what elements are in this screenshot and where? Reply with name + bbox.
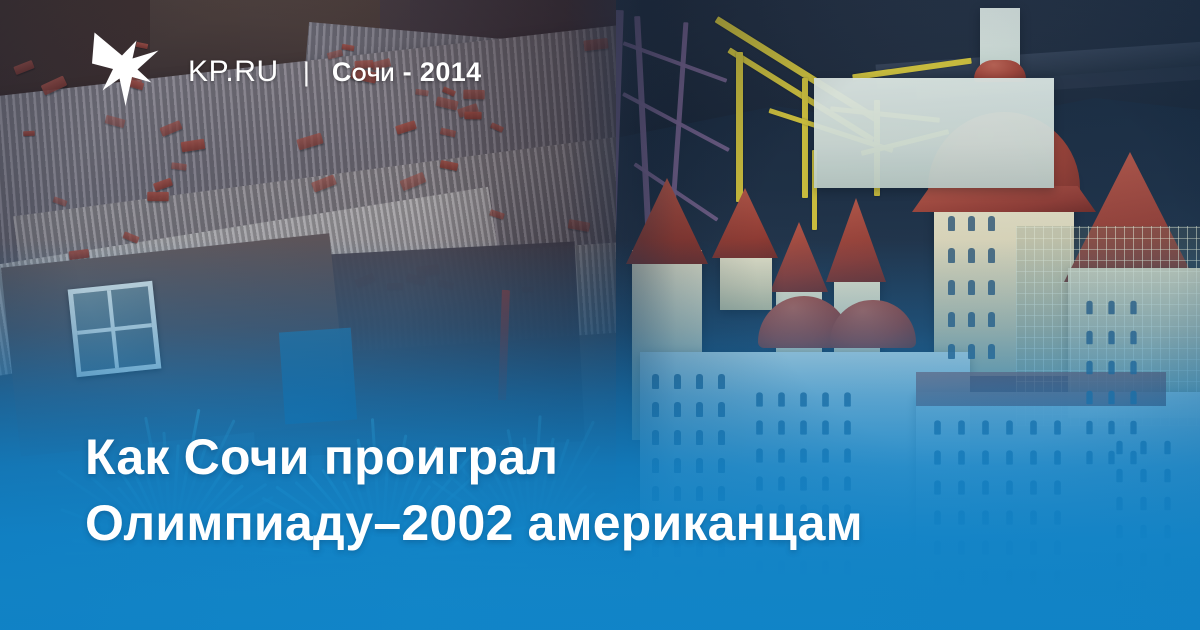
headline-line-2: Олимпиаду–2002 американцам: [85, 490, 1135, 556]
social-share-card: KP.RU | Сочи - 2014 Как Сочи проиграл Ол…: [0, 0, 1200, 630]
swallow-bird-icon: [92, 28, 162, 108]
brand-text-wrap: KP.RU | Сочи - 2014: [188, 55, 482, 89]
brand-section-label: Сочи - 2014: [332, 57, 482, 88]
brand-name: KP.RU: [188, 55, 279, 89]
brand-header: KP.RU | Сочи - 2014: [0, 0, 1200, 140]
headline: Как Сочи проиграл Олимпиаду–2002 америка…: [85, 424, 1135, 556]
headline-line-1: Как Сочи проиграл: [85, 424, 1135, 490]
brand-separator: |: [303, 57, 310, 88]
